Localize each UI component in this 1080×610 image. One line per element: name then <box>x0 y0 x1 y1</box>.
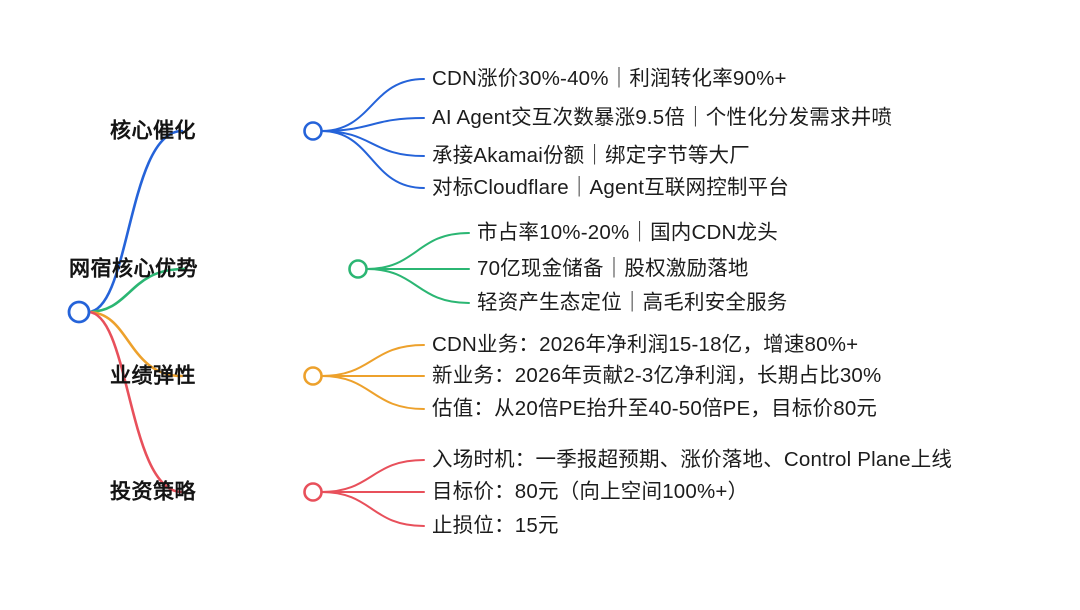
leaf-edge-investment-strategy-0 <box>322 460 425 492</box>
leaf-label-earnings-elasticity-0[interactable]: CDN业务：2026年净利润15-18亿，增速80%+ <box>432 335 858 356</box>
leaf-edge-earnings-elasticity-2 <box>322 376 425 409</box>
branch-node-circle-core-catalyst[interactable] <box>305 123 322 140</box>
branch-label-wangsu-advantages[interactable]: 网宿核心优势 <box>69 259 198 280</box>
leaf-edge-earnings-elasticity-0 <box>322 345 425 376</box>
branch-edge-core-catalyst <box>88 131 182 312</box>
root-node-circle[interactable] <box>69 302 89 322</box>
leaf-label-earnings-elasticity-1[interactable]: 新业务：2026年贡献2-3亿净利润，长期占比30% <box>432 366 881 387</box>
leaf-label-investment-strategy-1[interactable]: 目标价：80元（向上空间100%+） <box>432 482 748 503</box>
branch-label-core-catalyst[interactable]: 核心催化 <box>110 121 196 142</box>
leaf-edge-investment-strategy-2 <box>322 492 425 526</box>
leaf-label-investment-strategy-0[interactable]: 入场时机：一季报超预期、涨价落地、Control Plane上线 <box>432 450 952 471</box>
leaf-label-wangsu-advantages-1[interactable]: 70亿现金储备｜股权激励落地 <box>477 259 749 280</box>
branch-edge-investment-strategy <box>88 312 182 492</box>
branch-label-earnings-elasticity[interactable]: 业绩弹性 <box>110 366 196 387</box>
branch-node-circle-wangsu-advantages[interactable] <box>350 261 367 278</box>
leaf-edge-core-catalyst-3 <box>322 131 425 188</box>
branch-node-circle-investment-strategy[interactable] <box>305 484 322 501</box>
branch-label-investment-strategy[interactable]: 投资策略 <box>110 482 196 503</box>
leaf-label-wangsu-advantages-2[interactable]: 轻资产生态定位｜高毛利安全服务 <box>477 293 788 314</box>
leaf-edge-wangsu-advantages-2 <box>367 269 470 303</box>
leaf-label-investment-strategy-2[interactable]: 止损位：15元 <box>432 516 559 537</box>
leaf-label-core-catalyst-2[interactable]: 承接Akamai份额｜绑定字节等大厂 <box>432 146 750 167</box>
leaf-label-earnings-elasticity-2[interactable]: 估值：从20倍PE抬升至40-50倍PE，目标价80元 <box>432 399 877 420</box>
leaf-edge-wangsu-advantages-0 <box>367 233 470 269</box>
leaf-label-core-catalyst-1[interactable]: AI Agent交互次数暴涨9.5倍｜个性化分发需求井喷 <box>432 108 892 129</box>
leaf-edge-core-catalyst-2 <box>322 131 425 156</box>
mindmap-canvas: 核心催化CDN涨价30%-40%｜利润转化率90%+AI Agent交互次数暴涨… <box>0 0 1080 610</box>
leaf-label-core-catalyst-0[interactable]: CDN涨价30%-40%｜利润转化率90%+ <box>432 69 787 90</box>
branch-node-circle-earnings-elasticity[interactable] <box>305 368 322 385</box>
leaf-label-core-catalyst-3[interactable]: 对标Cloudflare｜Agent互联网控制平台 <box>432 178 789 199</box>
leaf-label-wangsu-advantages-0[interactable]: 市占率10%-20%｜国内CDN龙头 <box>477 223 778 244</box>
leaf-edge-core-catalyst-0 <box>322 79 425 131</box>
